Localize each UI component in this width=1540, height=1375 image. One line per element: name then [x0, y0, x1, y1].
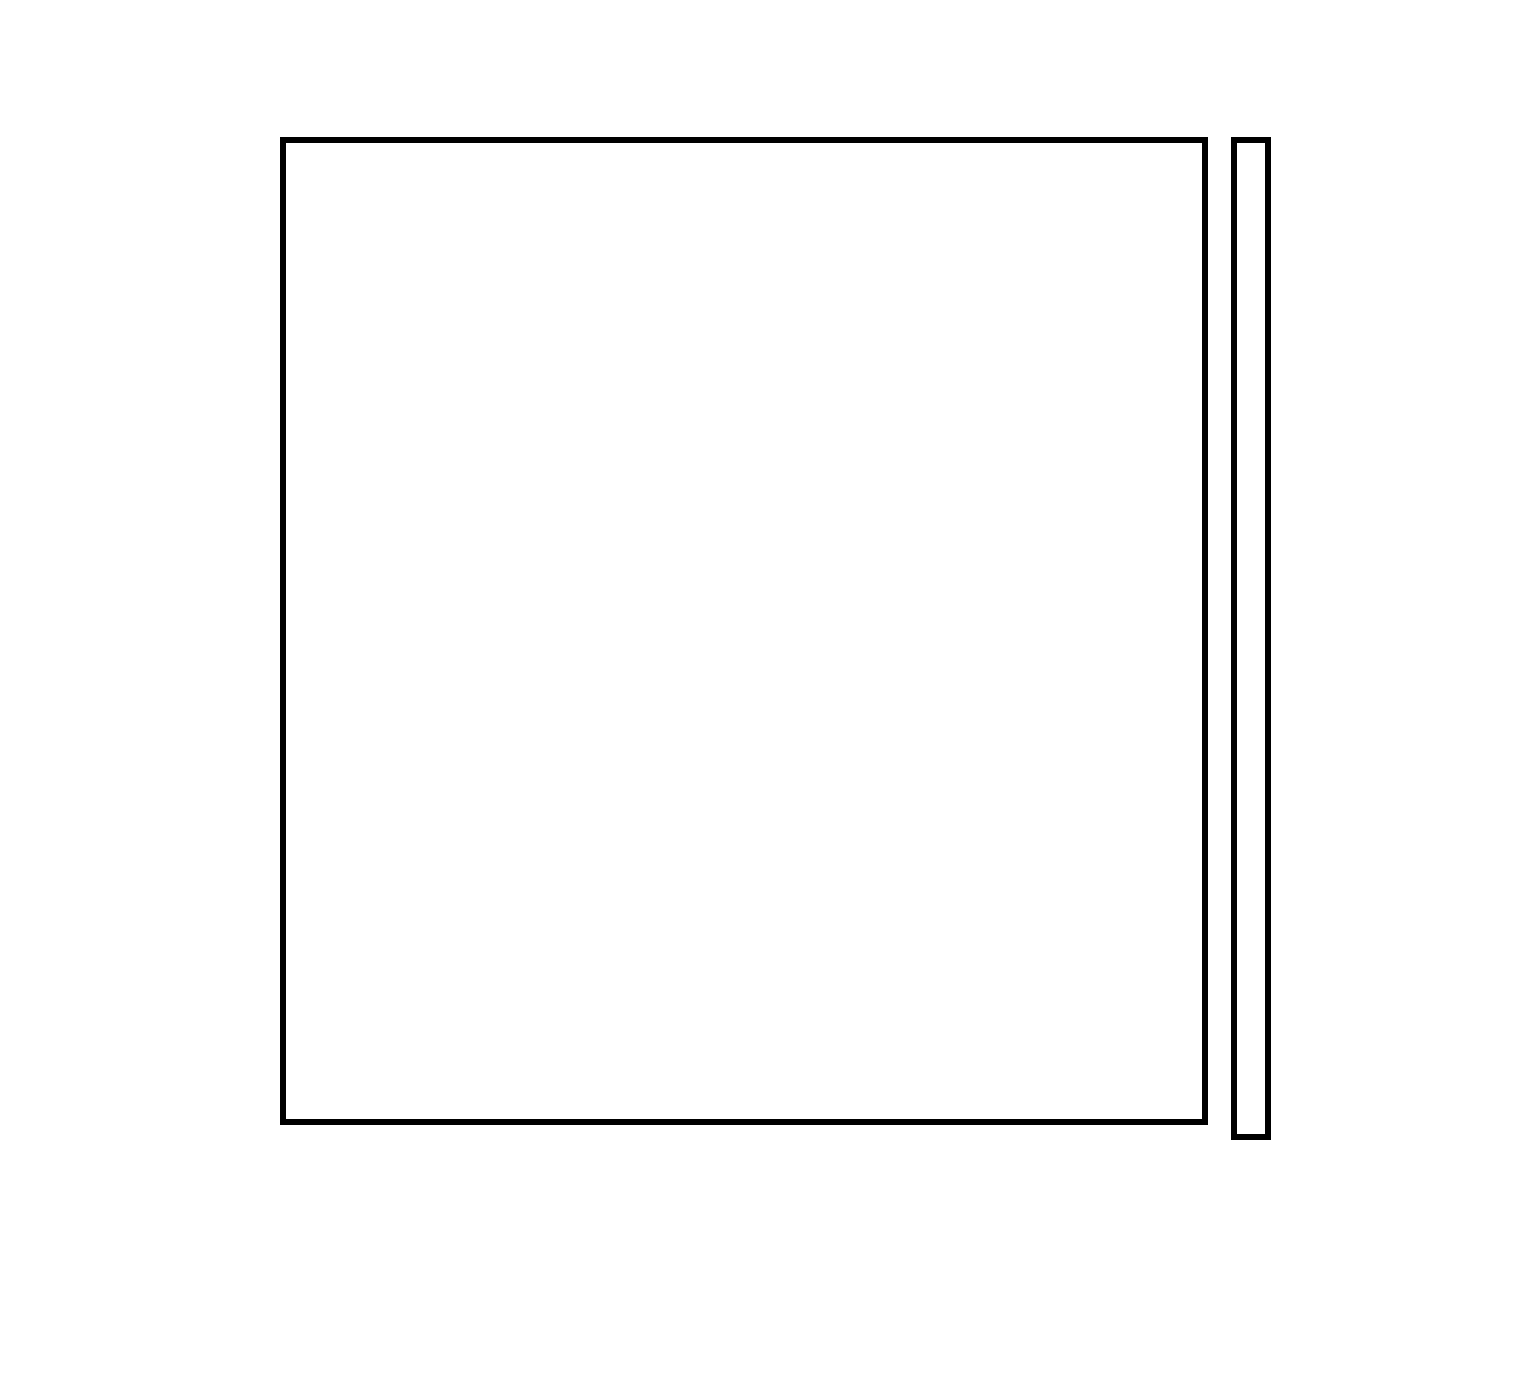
colorbar — [1231, 137, 1271, 1140]
colorbar-label-wrapper — [1415, 137, 1535, 1140]
age-map-heatmap — [286, 143, 1202, 1119]
y-axis-label-wrapper — [0, 137, 140, 1125]
colorbar-gradient — [1237, 143, 1265, 1134]
figure-root — [0, 0, 1540, 1375]
plot-axes-frame — [280, 137, 1208, 1125]
